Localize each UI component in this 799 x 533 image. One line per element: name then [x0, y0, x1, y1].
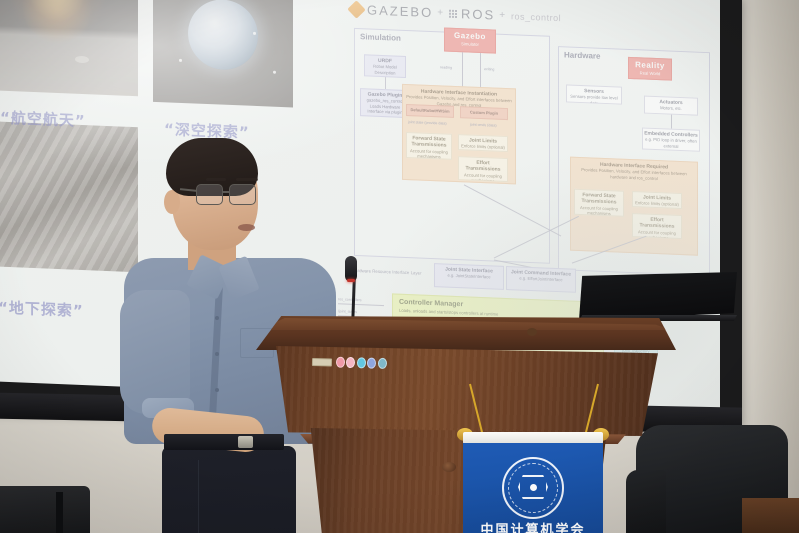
- planet-earth: [188, 0, 258, 71]
- node-embedded-controllers: Embedded Controllers e.g. PID loop in dr…: [642, 127, 700, 151]
- pennant-cords: [455, 384, 611, 436]
- speaker-eyebrow-right: [236, 178, 258, 181]
- speaker-glasses: [196, 184, 262, 206]
- node-effort-transmissions-sim: Effort Transmissions Account for couplin…: [458, 156, 508, 182]
- ccf-seal-logo: CCF: [502, 457, 564, 519]
- node-effort-transmissions-hw: Effort Transmissions Account for couplin…: [632, 213, 682, 239]
- node-joint-state-interface: Joint State Interface e.g. JointStateInt…: [434, 263, 504, 290]
- node-default-robot-hw-sim: DefaultRobotHWSim: [406, 104, 454, 118]
- node-forward-state-transmissions-hw: Forward State Transmissions Account for …: [574, 189, 624, 217]
- photo-scene: 月球探测与钻井 3 “航空航天” “深空探索”: [0, 0, 799, 533]
- node-actuators: Actuators Motors, etc.: [644, 96, 698, 116]
- diagram-logo-row: GAZEBO + ROS + ros_control: [350, 2, 561, 25]
- speaker-mouth: [238, 224, 255, 231]
- node-sensors: Sensors Sensors provide low level data: [566, 84, 622, 104]
- microphone-led-indicator: [347, 279, 355, 282]
- stream-label-0: ros_controllers: [338, 297, 362, 302]
- pennant-cloth: CCF 中国计算机学会: [463, 443, 603, 533]
- sticker-3: [356, 357, 365, 368]
- thumbnail-earth-from-space: [153, 0, 293, 107]
- belt-buckle: [238, 436, 253, 448]
- lectern-knob: [442, 462, 456, 472]
- node-joint-limits-hw: Joint Limits Enforce limits (optional): [632, 191, 682, 209]
- side-table-leg: [56, 492, 63, 533]
- node-gazebo-simulator: Gazebo Simulator: [444, 28, 496, 54]
- panel-simulation-label: Simulation: [360, 32, 401, 43]
- pennant-hook: [527, 328, 537, 336]
- thumbnail-caption-aerospace: “航空航天”: [0, 107, 86, 131]
- edge-label-writing: writing: [484, 67, 494, 71]
- sticker-1: [335, 357, 344, 368]
- panel-hardware-label: Hardware: [564, 50, 600, 60]
- plus-icon-2: +: [499, 10, 507, 21]
- thumbnail-lunar-lander: [0, 0, 138, 96]
- gazebo-cube-icon: [347, 0, 365, 18]
- sticker-4: [367, 357, 376, 368]
- node-joint-command-interface: Joint Command Interface e.g. EffortJoint…: [506, 266, 576, 293]
- thumbnail-underground-terrain: [0, 121, 138, 272]
- trouser-seam: [198, 460, 199, 533]
- ccf-org-name: 中国计算机学会: [463, 519, 603, 533]
- edge-label-reading: reading: [440, 65, 452, 69]
- ros-wordmark: ROS: [461, 6, 495, 22]
- lectern-stickers: [312, 356, 387, 369]
- plus-icon-1: +: [437, 7, 445, 18]
- gazebo-wordmark: GAZEBO: [367, 2, 433, 20]
- lectern-top: [256, 316, 676, 350]
- node-joint-limits-sim: Joint Limits Enforce limits (optional): [458, 134, 508, 152]
- sticker-2: [346, 357, 355, 368]
- thumbnail-caption-underground: “地下探索”: [0, 297, 84, 321]
- speaker-eyebrow-left: [206, 178, 226, 181]
- lunar-rock: [75, 56, 89, 64]
- node-reality: Reality Real World: [628, 57, 672, 81]
- laptop-screen-rear: [579, 272, 737, 320]
- diagram-layer-label: Hardware Resource Interface Layer: [352, 268, 422, 276]
- lectern-name-plate: [312, 357, 332, 366]
- node-urdf: URDF Robot Model Description: [364, 54, 406, 78]
- sticker-5: [377, 358, 386, 369]
- node-custom-plugin: Custom Plugin: [460, 106, 508, 120]
- ros-control-wordmark: ros_control: [511, 11, 561, 23]
- speaker-sleeve: [120, 290, 190, 414]
- stream-label-1: /joint_states: [338, 309, 357, 314]
- wooden-table-right: [742, 498, 799, 533]
- side-table-left: [0, 486, 90, 533]
- ccf-pennant: CCF 中国计算机学会: [455, 432, 611, 533]
- ros-dots-icon: [449, 9, 457, 17]
- ccf-emblem-icon: [518, 475, 548, 499]
- node-forward-state-transmissions-sim: Forward State Transmissions Account for …: [406, 132, 452, 160]
